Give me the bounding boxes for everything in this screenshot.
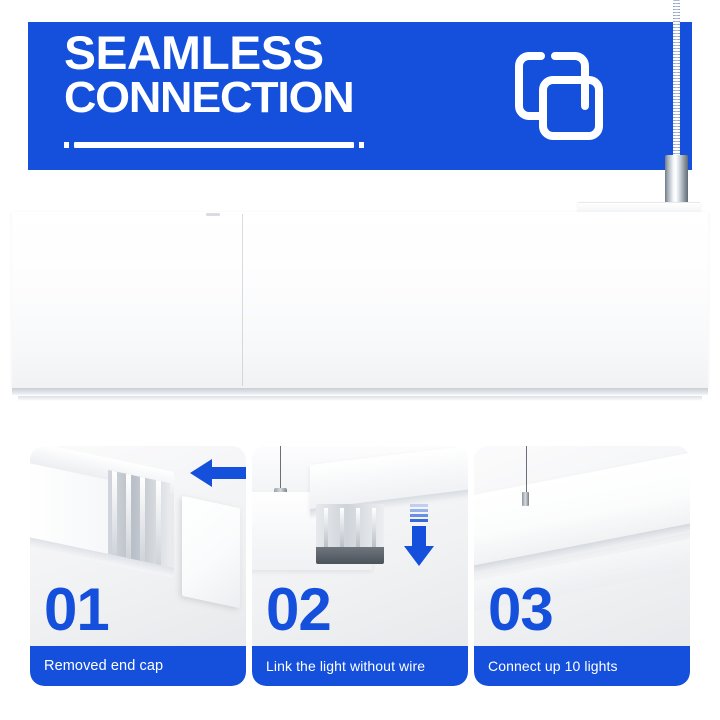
hero-section: SEAMLESS CONNECTION [0, 0, 720, 430]
step-panel-01[interactable]: 01 Removed end cap [30, 446, 246, 686]
page-title: SEAMLESS CONNECTION [64, 30, 464, 119]
end-cap-part [182, 496, 240, 608]
connector-base [316, 547, 384, 564]
headline-banner: SEAMLESS CONNECTION [28, 22, 692, 170]
aluminium-channel [30, 446, 174, 590]
fixture-seam-line [242, 214, 243, 386]
channel-interior [108, 470, 170, 567]
step-number-02: 02 [266, 580, 331, 640]
step-caption-03: Connect up 10 lights [474, 646, 690, 686]
step-number-03: 03 [488, 580, 553, 640]
wire-clip [522, 492, 529, 506]
ultra-high-fit-badge: ULTRA-HICH FIT [498, 44, 620, 186]
title-line-1: SEAMLESS [64, 30, 472, 76]
step-panels: 01 Removed end cap [0, 446, 720, 690]
fixture-body [12, 212, 708, 388]
badge-caption: ULTRA-HICH FIT [498, 168, 620, 182]
title-line-2: CONNECTION [64, 76, 472, 119]
suspension-wire [280, 446, 281, 490]
step-caption-01: Removed end cap [30, 646, 246, 686]
arrow-down-icon [402, 504, 436, 572]
linear-light-fixture [12, 212, 708, 408]
step-number-01: 01 [44, 580, 109, 640]
step-panel-03[interactable]: 03 Connect up 10 lights [474, 446, 690, 686]
title-underline-rule [64, 140, 364, 150]
rule-cap-right [359, 142, 364, 148]
motion-lines [410, 504, 428, 522]
arrow-left-icon [188, 456, 246, 490]
steel-cable-icon [673, 0, 680, 160]
step-panel-02[interactable]: 02 Link the light without wire [252, 446, 468, 686]
fixture-diffuser [12, 388, 708, 395]
product-infographic: SEAMLESS CONNECTION [0, 0, 720, 720]
fixture-notch [206, 213, 220, 216]
suspension-wire [526, 446, 527, 494]
step-caption-02: Link the light without wire [252, 646, 468, 686]
linked-squares-icon [511, 48, 607, 153]
fixture-shadow [18, 396, 702, 401]
wireless-connector [316, 504, 384, 564]
rule-bar [74, 142, 354, 148]
rule-cap-left [64, 142, 69, 148]
